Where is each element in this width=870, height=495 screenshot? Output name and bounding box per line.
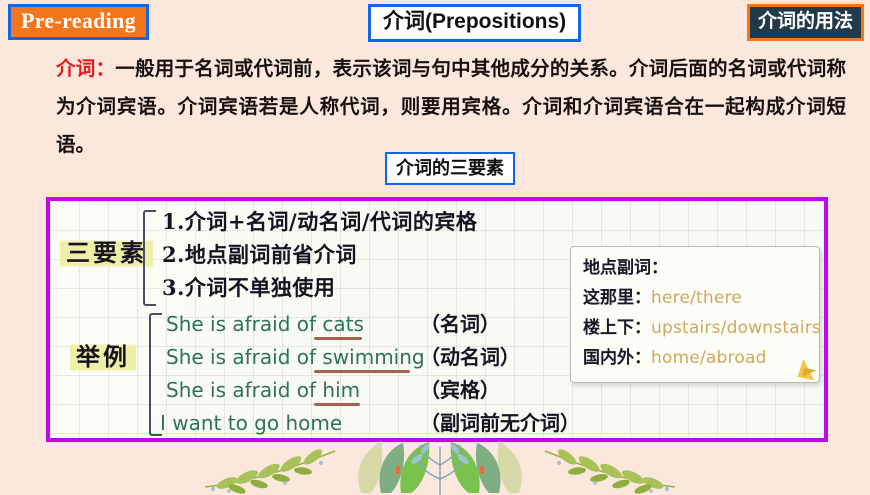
example-sentence-3: She is afraid of him	[166, 377, 360, 403]
definition-body: 一般用于名词或代词前，表示该词与句中其他成分的关系。介词后面的名词或代词称为介词…	[56, 58, 846, 156]
note-label-2: 楼上下：	[583, 318, 651, 338]
slide-canvas: Pre-reading 介词(Prepositions) 介词的用法 介词：一般…	[0, 0, 870, 489]
label-examples: 举例	[70, 341, 136, 373]
example-annotation-3: （宾格）	[420, 376, 500, 404]
note-row-upstairs-downstairs: 楼上下：upstairs/downstairs	[583, 316, 820, 340]
note-words-2: upstairs/downstairs	[651, 318, 820, 338]
note-label-3: 国内外：	[583, 348, 651, 368]
note-heading: 地点副词：	[583, 256, 668, 280]
definition-paragraph: 介词：一般用于名词或代词前，表示该词与句中其他成分的关系。介词后面的名词或代词称…	[56, 50, 846, 164]
example-annotation-4: （副词前无介词）	[420, 409, 580, 437]
rule-item-3: 3.介词不单独使用	[162, 274, 335, 302]
section-badge-pre-reading: Pre-reading	[8, 4, 149, 40]
note-row-here-there: 这那里：here/there	[583, 286, 742, 310]
underline-swimming	[314, 370, 410, 373]
example-sentence-1: She is afraid of cats	[166, 311, 364, 337]
note-words-3: home/abroad	[651, 348, 767, 368]
note-label-1: 这那里：	[583, 288, 651, 308]
topic-badge-usage: 介词的用法	[747, 4, 864, 41]
place-adverbs-note-card: 地点副词： 这那里：here/there 楼上下：upstairs/downst…	[570, 246, 820, 383]
underline-him	[314, 403, 360, 406]
note-words-1: here/there	[651, 288, 742, 308]
example-sentence-4: I want to go home	[160, 410, 342, 436]
definition-keyword: 介词：	[56, 58, 115, 80]
bracket-rules	[143, 210, 156, 306]
example-sentence-2: She is afraid of swimming	[166, 344, 425, 370]
label-three-elements: 三要素	[60, 237, 153, 269]
page-title: 介词(Prepositions)	[368, 4, 581, 42]
rule-item-2: 2.地点副词前省介词	[162, 241, 357, 269]
note-row-home-abroad: 国内外：home/abroad	[583, 346, 767, 370]
notebook-panel: 三要素 举例 1.介词+名词/动名词/代词的宾格 2.地点副词前省介词 3.介词…	[46, 197, 828, 442]
botanical-decoration-icon	[185, 437, 695, 495]
underline-cats	[314, 337, 362, 340]
subtitle-three-elements: 介词的三要素	[385, 152, 515, 185]
rule-item-1: 1.介词+名词/动名词/代词的宾格	[162, 208, 477, 236]
example-annotation-1: （名词）	[420, 310, 500, 338]
example-annotation-2: （动名词）	[420, 343, 520, 371]
